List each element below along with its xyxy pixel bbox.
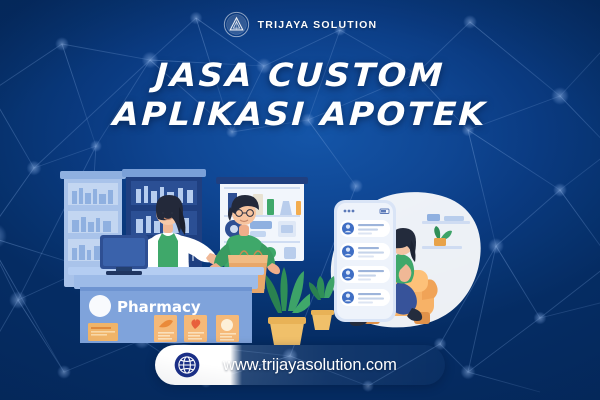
potted-plant bbox=[309, 276, 335, 330]
page-title-line-1: JASA CUSTOM bbox=[2, 56, 598, 95]
brand-name: TRIJAYA SOLUTION bbox=[258, 19, 378, 31]
chat-row[interactable] bbox=[340, 220, 390, 237]
cash-register-monitor bbox=[100, 235, 148, 275]
chat-row[interactable] bbox=[340, 289, 390, 306]
potted-plant bbox=[266, 267, 310, 345]
chat-row[interactable] bbox=[340, 243, 390, 260]
brand-header: TRIJAYA SOLUTION bbox=[0, 11, 600, 38]
poster-canvas: TRIJAYA SOLUTION JASA CUSTOM APLIKASI AP… bbox=[0, 0, 600, 400]
page-title-line-2: APLIKASI APOTEK bbox=[2, 95, 598, 134]
triangle-in-circle-logo-icon bbox=[223, 11, 250, 38]
website-url-text: www.trijayasolution.com bbox=[219, 356, 397, 375]
pharmacy-counter: Pharmacy bbox=[68, 267, 264, 343]
globe-icon bbox=[174, 352, 200, 378]
mobile-chat-app-illustration bbox=[306, 186, 496, 344]
page-title: JASA CUSTOM APLIKASI APOTEK bbox=[0, 56, 600, 134]
website-url-bar[interactable]: www.trijayasolution.com bbox=[155, 345, 445, 385]
smartphone-mockup bbox=[334, 200, 396, 322]
chat-row[interactable] bbox=[340, 266, 390, 283]
globe-icon-wrapper bbox=[155, 345, 219, 385]
pharmacy-counter-illustration: Pharmacy bbox=[58, 163, 310, 345]
counter-label: Pharmacy bbox=[117, 298, 201, 316]
